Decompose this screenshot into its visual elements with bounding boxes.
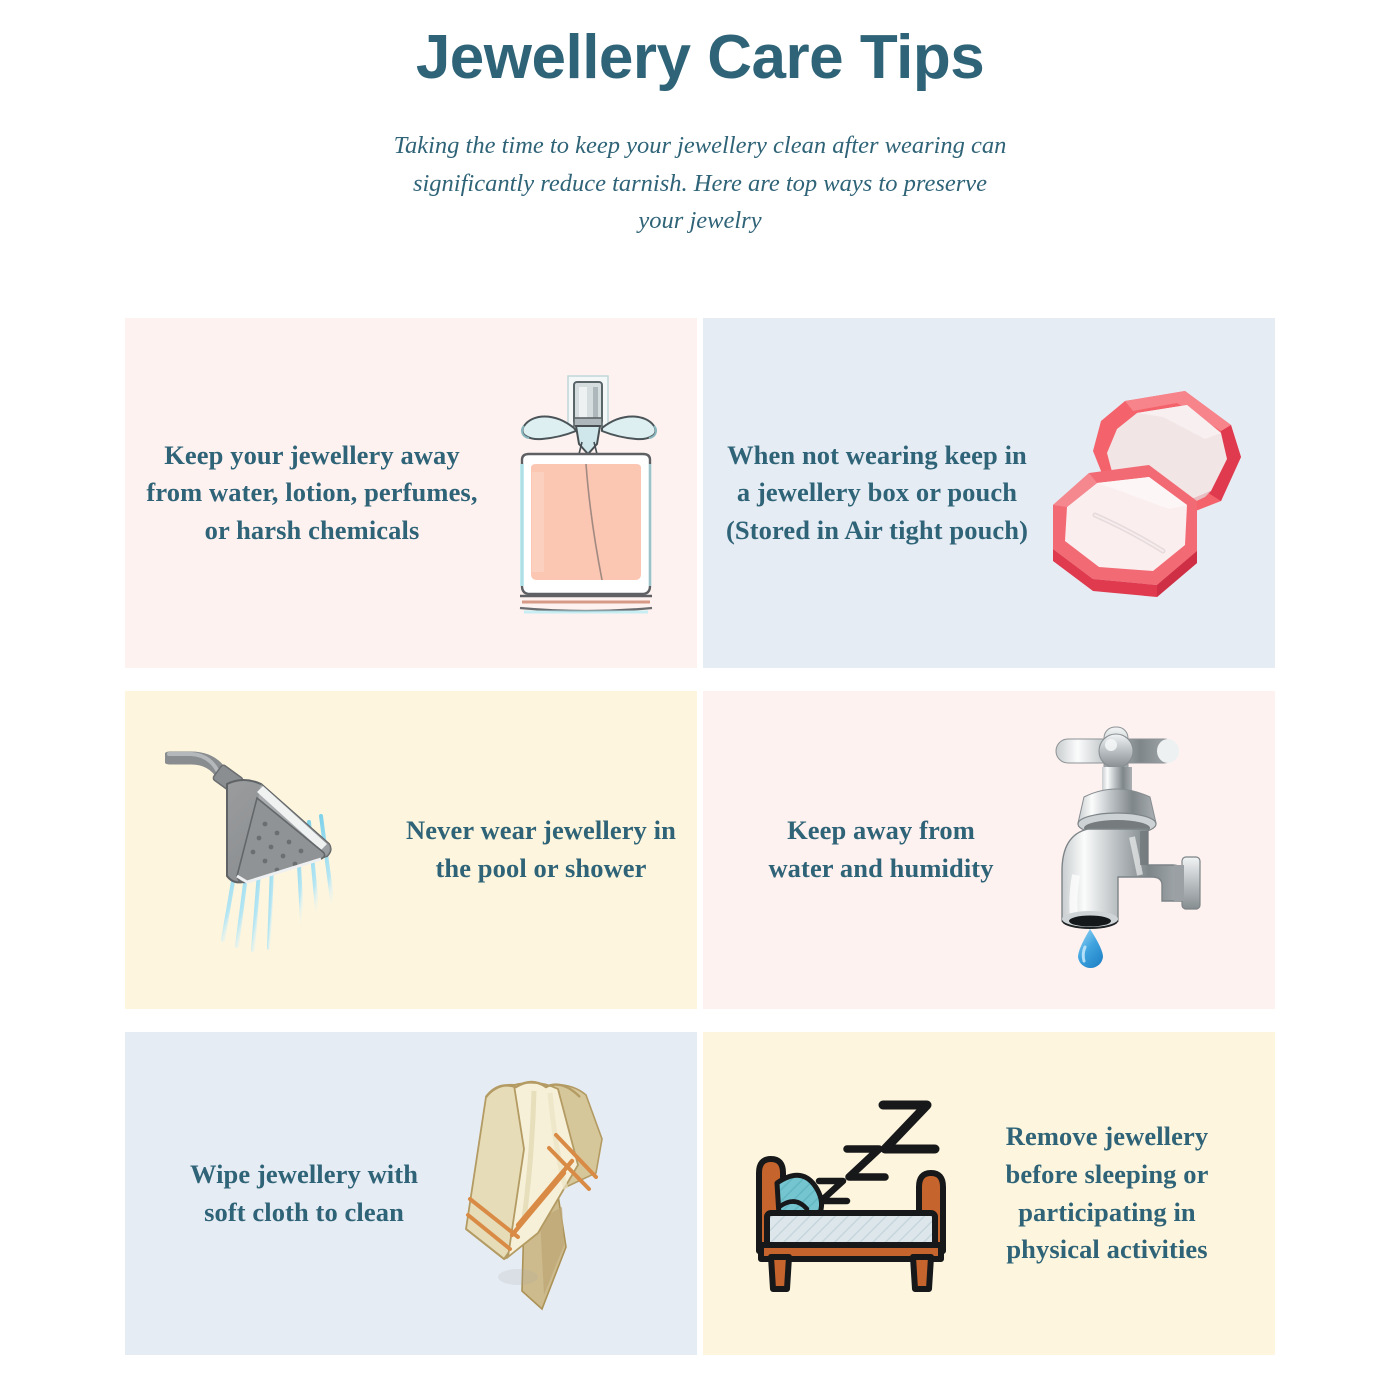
card-illustration: [703, 1091, 975, 1296]
infographic-page: Jewellery Care Tips Taking the time to k…: [0, 0, 1400, 1400]
card-illustration: [1003, 725, 1275, 975]
header: Jewellery Care Tips Taking the time to k…: [0, 0, 1400, 239]
card-illustration: [481, 368, 697, 618]
tip-card-text: Wipe jewellery with soft cloth to clean: [125, 1156, 425, 1231]
tip-card-storage[interactable]: When not wearing keep in a jewellery box…: [703, 318, 1275, 668]
tip-card-text: When not wearing keep in a jewellery box…: [703, 437, 1033, 550]
tips-grid: Keep your jewellery away from water, lot…: [125, 318, 1275, 1355]
tip-card-sleep[interactable]: Remove jewellery before sleeping or part…: [703, 1032, 1275, 1355]
polishing-cloth-icon: [446, 1069, 631, 1319]
page-title: Jewellery Care Tips: [0, 22, 1400, 93]
tip-card-text: Keep your jewellery away from water, lot…: [125, 437, 481, 550]
ring-box-icon: [1045, 373, 1260, 613]
shower-head-icon: [165, 740, 375, 960]
tip-card-text: Never wear jewellery in the pool or show…: [397, 812, 697, 887]
tip-card-shower[interactable]: Never wear jewellery in the pool or show…: [125, 691, 697, 1009]
card-illustration: [1033, 373, 1275, 613]
card-illustration: [425, 1069, 697, 1319]
tip-card-perfume[interactable]: Keep your jewellery away from water, lot…: [125, 318, 697, 668]
tip-card-text: Remove jewellery before sleeping or part…: [975, 1118, 1275, 1269]
bed-sleep-icon: [743, 1091, 958, 1296]
perfume-bottle-icon: [498, 368, 674, 618]
tip-card-humidity[interactable]: Keep away from water and humidity: [703, 691, 1275, 1009]
faucet-drip-icon: [1022, 725, 1212, 975]
tip-card-wipe[interactable]: Wipe jewellery with soft cloth to clean: [125, 1032, 697, 1355]
card-illustration: [125, 740, 397, 960]
tip-card-text: Keep away from water and humidity: [703, 812, 1003, 887]
page-subtitle: Taking the time to keep your jewellery c…: [390, 127, 1010, 239]
